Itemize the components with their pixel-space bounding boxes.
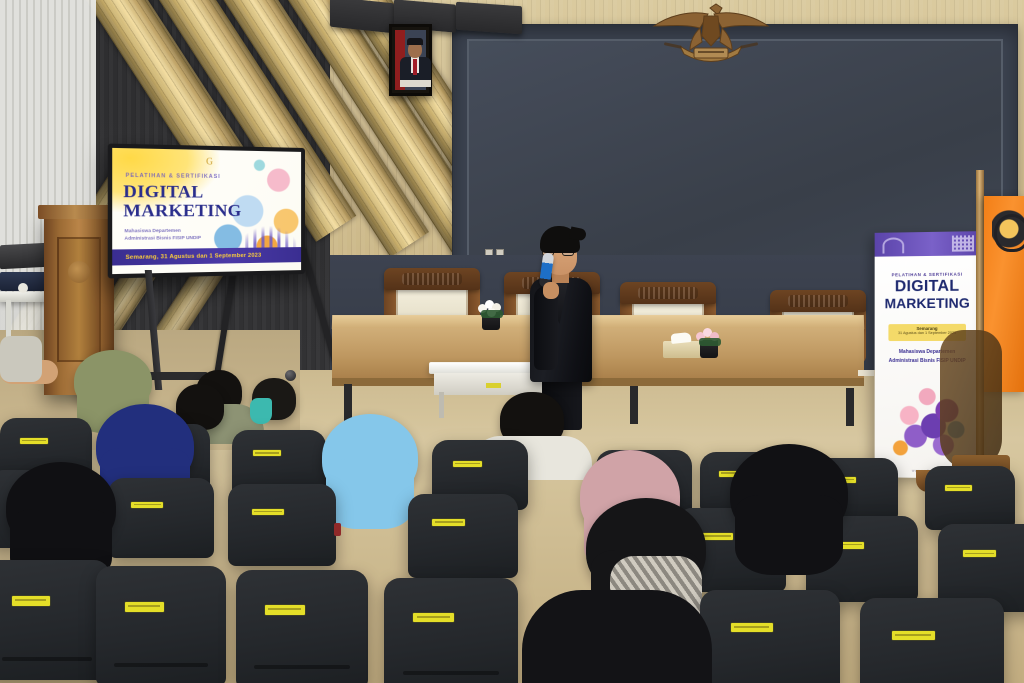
seat-frame-lower (89, 607, 233, 683)
seat[interactable] (236, 570, 368, 683)
seat[interactable] (96, 566, 226, 683)
table-asset-tag (858, 370, 874, 376)
caster-wheel (285, 370, 296, 381)
seat-frame-lower (229, 610, 375, 683)
seat-asset-tag (253, 450, 281, 456)
seat-asset-tag (892, 631, 935, 640)
flower-foliage (481, 310, 503, 318)
seat[interactable] (0, 560, 110, 680)
seat[interactable] (384, 578, 518, 683)
hijab (322, 414, 418, 500)
ceiling-speaker (456, 2, 522, 35)
folding-table-leg (439, 392, 444, 418)
seat-vent (114, 663, 208, 667)
portrait-peci-cap (407, 38, 423, 45)
seat-frame (89, 559, 233, 633)
seat-latch (334, 523, 341, 536)
seat[interactable] (700, 590, 840, 683)
slide-subtitle-line2: Administrasi Bisnis FISIP UNDIP (124, 235, 201, 241)
portrait-image (395, 30, 426, 90)
presenter-hair (540, 226, 580, 253)
seat-asset-tag (265, 605, 305, 614)
seat-frame (221, 477, 343, 528)
seat[interactable] (108, 478, 214, 558)
slide-subtitle-line1: Mahasiswa Departemen (124, 228, 180, 234)
attendee-lightblue-hijab (322, 414, 418, 522)
seat-asset-tag (413, 613, 453, 622)
seat-frame-lower (853, 635, 1011, 683)
seat-asset-tag (131, 502, 163, 508)
slide-title-line2: MARKETING (123, 201, 241, 221)
flower-foliage (699, 338, 721, 346)
portrait-tie (413, 59, 417, 75)
projection-display[interactable]: G PELATIHAN & SERTIFIKASI DIGITAL MARKET… (108, 144, 305, 279)
seat[interactable] (228, 484, 336, 566)
seat-asset-tag (12, 596, 50, 606)
seat-frame (101, 471, 221, 521)
seat-frame-lower (101, 505, 221, 564)
attendee-grey-shirt (0, 336, 42, 382)
slide-title: DIGITAL MARKETING (123, 182, 260, 221)
chair-crest (770, 290, 866, 312)
podium-seal (68, 261, 90, 283)
display-screen: G PELATIHAN & SERTIFIKASI DIGITAL MARKET… (112, 148, 301, 274)
presenter-hand (543, 282, 559, 299)
attendee-black-hijab-1 (6, 462, 116, 572)
wooden-stand (940, 330, 1002, 470)
slide-title-line1: DIGITAL (123, 181, 203, 202)
folding-table-asset-tag (486, 383, 501, 388)
banner-title: DIGITAL MARKETING (875, 278, 980, 310)
seat-vent (254, 665, 349, 669)
seat[interactable] (925, 466, 1015, 530)
attendee-black-hijab-3 (730, 444, 848, 564)
slide-subtitle: Mahasiswa Departemen Administrasi Bisnis… (124, 226, 251, 242)
hijab (6, 462, 116, 552)
seat-asset-tag (20, 438, 48, 444)
presenter-arm (534, 286, 558, 370)
seat-frame-lower (693, 627, 847, 683)
slide-footer-bar: Semarang, 31 Agustus dan 1 September 202… (112, 247, 301, 265)
seat-asset-tag (945, 485, 972, 491)
portrait-nameplate (400, 80, 431, 87)
banner-title-line2: MARKETING (875, 295, 980, 310)
seat[interactable] (860, 598, 1004, 683)
seat-vent (403, 671, 500, 675)
seat-asset-tag (252, 509, 284, 516)
slide-footer-text: Semarang, 31 Agustus dan 1 September 202… (112, 252, 261, 261)
slide-kicker: PELATIHAN & SERTIFIKASI (126, 173, 221, 180)
seat-frame (377, 571, 525, 643)
slide-logo-secondary (253, 159, 283, 172)
seat-frame-lower (401, 523, 525, 584)
podium-front-panel (57, 237, 101, 362)
presidential-portrait (389, 24, 432, 96)
slide-logo: G (206, 156, 213, 166)
attendee-teal-streak (250, 398, 272, 424)
banner-header-band (875, 231, 980, 257)
banner-title-line1: DIGITAL (875, 278, 980, 296)
attendee-black-hijab-foreground (522, 590, 712, 683)
head-table-leg (630, 386, 638, 424)
garuda-pancasila-emblem (650, 2, 772, 64)
seat-frame (853, 591, 1011, 659)
seat-asset-tag (731, 623, 773, 632)
seat-asset-tag (125, 602, 164, 612)
seat[interactable] (408, 494, 518, 578)
flag-emblem (992, 210, 1024, 252)
auditorium-photo: G PELATIHAN & SERTIFIKASI DIGITAL MARKET… (0, 0, 1024, 683)
seat-asset-tag (453, 461, 482, 467)
seat-frame (693, 583, 847, 651)
banner-kicker: PELATIHAN & SERTIFIKASI (875, 271, 980, 277)
cup (18, 283, 28, 293)
seat-frame-lower (221, 512, 343, 572)
seat-frame (229, 563, 375, 636)
seat-frame (401, 487, 525, 539)
chair-crest (384, 268, 480, 290)
hijab (74, 350, 152, 412)
hijab (730, 444, 848, 542)
head-table-leg (846, 388, 854, 426)
chair-crest (620, 282, 716, 304)
seat-asset-tag (963, 550, 997, 557)
seat-vent (2, 657, 93, 661)
seat-asset-tag (432, 519, 465, 526)
